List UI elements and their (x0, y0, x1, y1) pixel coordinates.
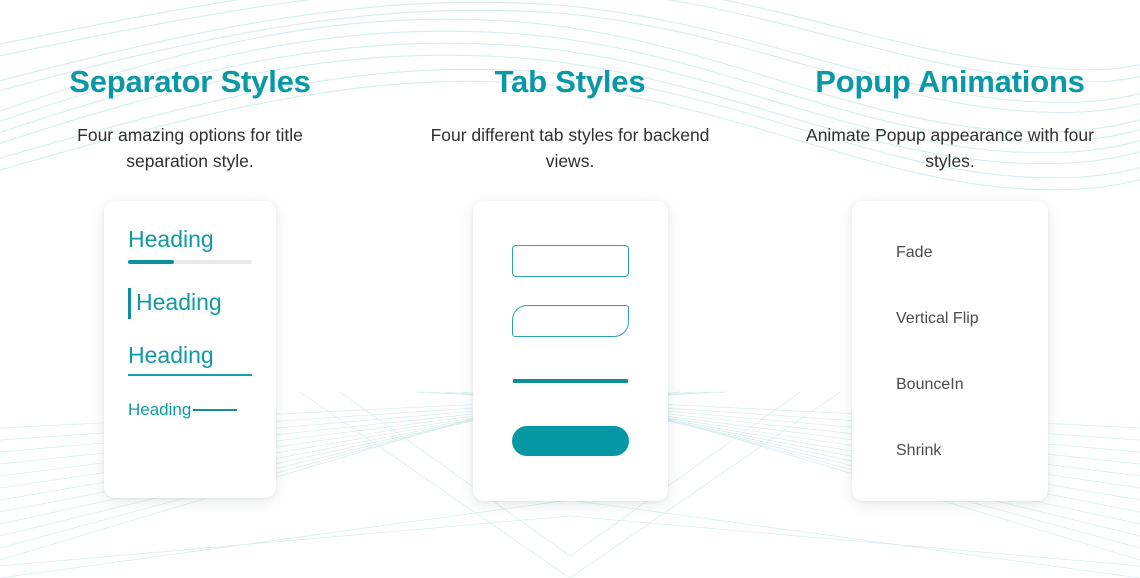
tab-option-outlined-rectangle[interactable] (512, 245, 629, 277)
separator-option-underline-split-bar[interactable]: Heading (128, 227, 252, 264)
tab-option-filled-pill[interactable] (512, 425, 629, 457)
column-description: Four different tab styles for backend vi… (415, 122, 725, 175)
column-popup-animations: Popup Animations Animate Popup appearanc… (760, 0, 1140, 578)
column-tab-styles: Tab Styles Four different tab styles for… (380, 0, 760, 578)
popup-animation-option-shrink[interactable]: Shrink (896, 441, 1048, 460)
popup-animation-option-bouncein[interactable]: BounceIn (896, 375, 1048, 394)
separator-rule-vertical-bar (128, 288, 131, 319)
separator-rule-thin-underline (128, 374, 252, 376)
popup-animation-option-fade[interactable]: Fade (896, 243, 1048, 262)
separator-heading-label: Heading (128, 343, 252, 369)
tab-preview-card (473, 201, 668, 501)
separator-heading-label: Heading (136, 290, 222, 316)
separator-preview-card: Heading Heading Heading Heading (104, 201, 276, 498)
column-description: Animate Popup appearance with four style… (795, 122, 1105, 175)
feature-columns: Separator Styles Four amazing options fo… (0, 0, 1140, 578)
column-title: Popup Animations (815, 64, 1084, 100)
separator-option-thin-underline[interactable]: Heading (128, 343, 252, 377)
tab-shape-filled-pill (512, 426, 629, 456)
tab-shape-underline (513, 379, 628, 383)
column-description: Four amazing options for title separatio… (35, 122, 345, 175)
separator-heading-label: Heading (128, 400, 191, 419)
column-separator-styles: Separator Styles Four amazing options fo… (0, 0, 380, 578)
column-title: Separator Styles (69, 64, 310, 100)
separator-option-left-vertical-bar[interactable]: Heading (128, 288, 252, 319)
popup-animation-option-vertical-flip[interactable]: Vertical Flip (896, 309, 1048, 328)
separator-rule-inline-line (193, 409, 237, 411)
tab-shape-leaf-corners (512, 305, 629, 337)
popup-animation-card: Fade Vertical Flip BounceIn Shrink (852, 201, 1048, 501)
separator-option-inline-trailing-line[interactable]: Heading (128, 400, 252, 419)
separator-rule-split-bar (128, 260, 252, 264)
tab-option-outlined-leaf-corners[interactable] (512, 305, 629, 337)
tab-option-underline-only[interactable] (512, 365, 629, 397)
column-title: Tab Styles (495, 64, 646, 100)
separator-heading-label: Heading (128, 227, 252, 253)
tab-shape-outlined-rectangle (512, 245, 629, 277)
